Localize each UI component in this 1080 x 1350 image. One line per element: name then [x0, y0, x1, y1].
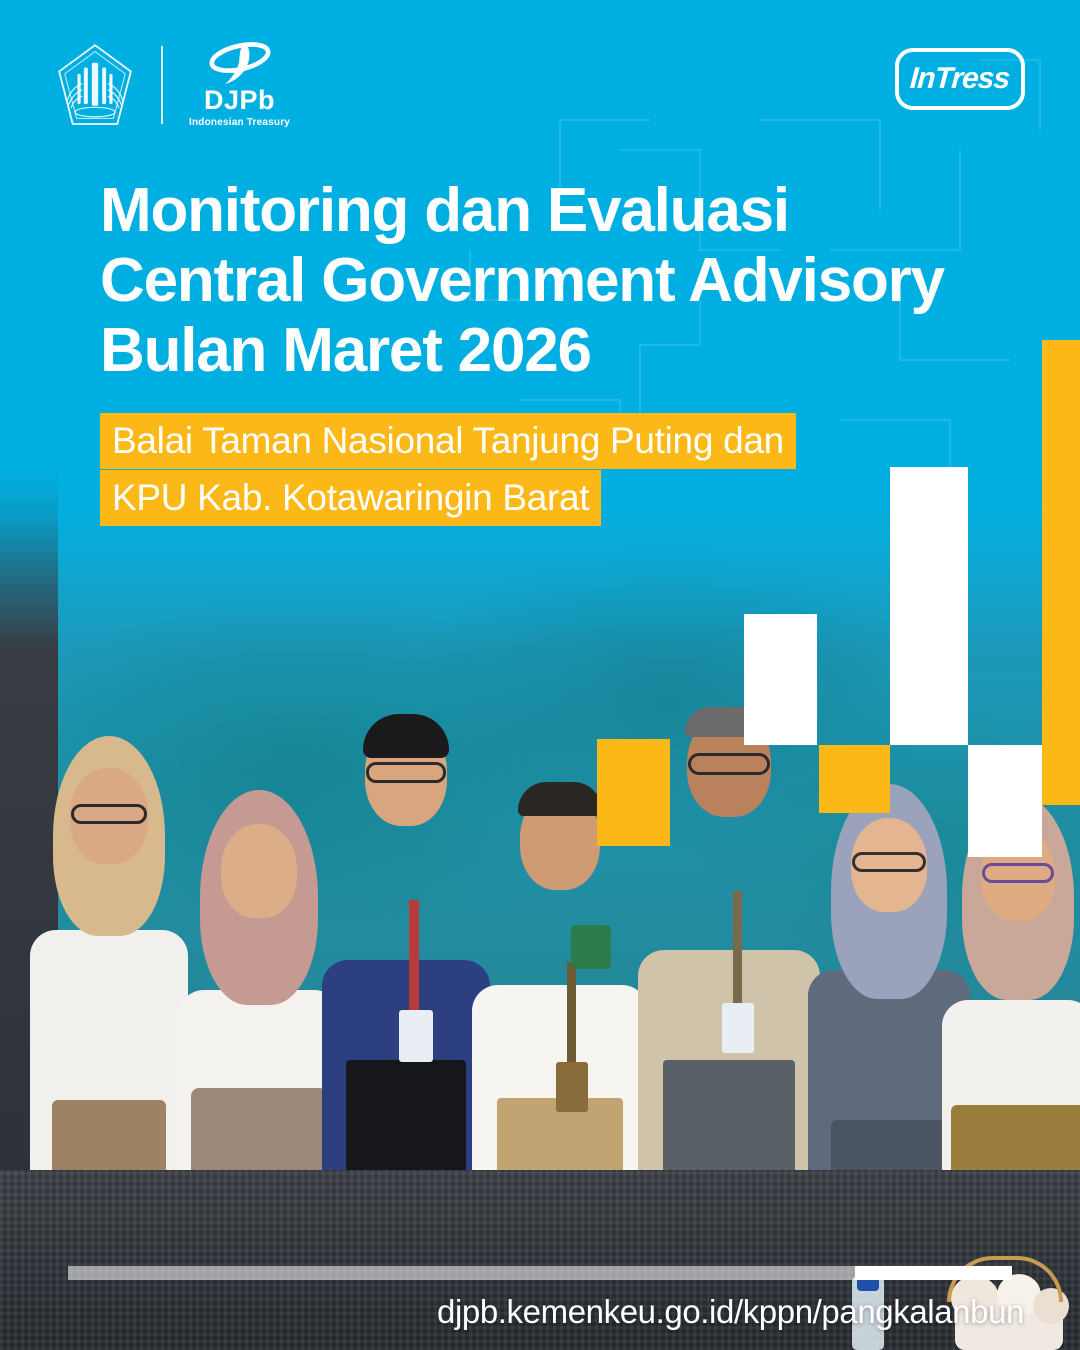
bar-white-mid	[744, 614, 817, 745]
logo-row: DJPb Indonesian Treasury	[55, 40, 290, 129]
bar-white-low	[968, 745, 1042, 857]
glasses-icon	[688, 753, 770, 775]
kemenkeu-pentagon-logo	[55, 42, 135, 128]
id-card	[556, 1062, 588, 1112]
bar-yellow-tall-right	[1042, 340, 1080, 770]
djpb-logo: DJPb Indonesian Treasury	[189, 40, 290, 129]
intress-logo: InTress	[895, 48, 1025, 110]
subtitle-line-2: KPU Kab. Kotawaringin Barat	[100, 470, 601, 526]
glasses-icon	[366, 762, 446, 783]
title-line-1: Monitoring dan Evaluasi	[100, 176, 1020, 246]
bar-yellow-low-a	[819, 745, 890, 813]
uniform-emblem	[571, 925, 611, 969]
subtitle-line-1: Balai Taman Nasional Tanjung Puting dan	[100, 413, 796, 469]
poster-canvas: DJPb Indonesian Treasury InTress Monitor…	[0, 0, 1080, 1350]
lanyard	[409, 900, 419, 1020]
page-title: Monitoring dan Evaluasi Central Governme…	[100, 176, 1020, 386]
glasses-icon	[852, 852, 926, 872]
title-line-3: Bulan Maret 2026	[100, 316, 1020, 386]
website-url: djpb.kemenkeu.go.id/kppn/pangkalanbun	[437, 1295, 1024, 1328]
hair	[363, 714, 449, 758]
hair	[518, 782, 602, 816]
glasses-icon	[71, 804, 147, 824]
footer-divider-highlight	[855, 1266, 1012, 1280]
bar-yellow-mid	[597, 739, 670, 846]
glasses-icon	[982, 863, 1054, 883]
lanyard	[567, 962, 576, 1072]
page-subtitle: Balai Taman Nasional Tanjung Puting dan …	[100, 413, 1000, 527]
djpb-swoosh-icon	[205, 40, 275, 86]
intress-wordmark: InTress	[909, 64, 1010, 94]
id-card	[722, 1003, 754, 1053]
lanyard	[733, 891, 742, 1011]
logo-divider	[161, 46, 163, 124]
bar-yellow-low-b	[1042, 745, 1080, 805]
title-line-2: Central Government Advisory	[100, 246, 1020, 316]
id-card	[399, 1010, 433, 1062]
djpb-wordmark: DJPb	[204, 87, 275, 114]
djpb-tagline: Indonesian Treasury	[189, 117, 290, 129]
